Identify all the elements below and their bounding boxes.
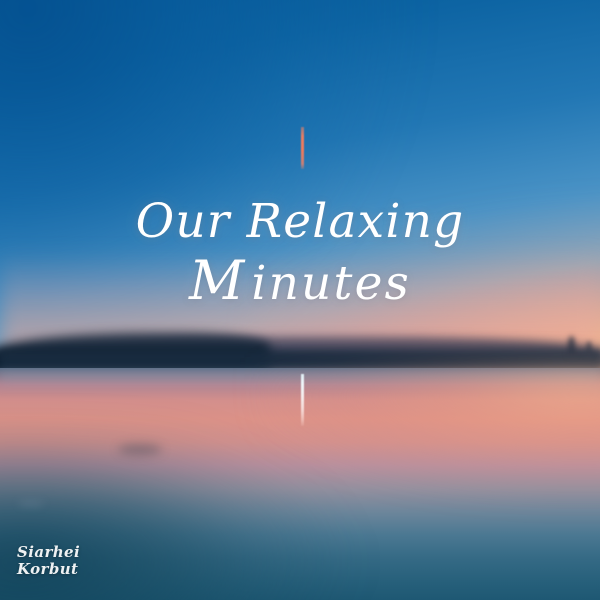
water-blur-smudge	[18, 500, 44, 507]
church-spire-silhouette	[568, 336, 575, 356]
poster-canvas: Our Relaxing Minutes Siarhei Korbut	[0, 0, 600, 600]
white-vertical-accent-line	[301, 374, 304, 426]
secondary-tower-silhouette	[586, 341, 592, 356]
watermark-first-name: Siarhei	[17, 544, 80, 561]
artist-watermark: Siarhei Korbut	[17, 544, 80, 578]
watermark-last-name: Korbut	[17, 561, 80, 578]
coral-vertical-accent-line	[301, 127, 304, 169]
water-blur-smudge	[118, 444, 162, 455]
